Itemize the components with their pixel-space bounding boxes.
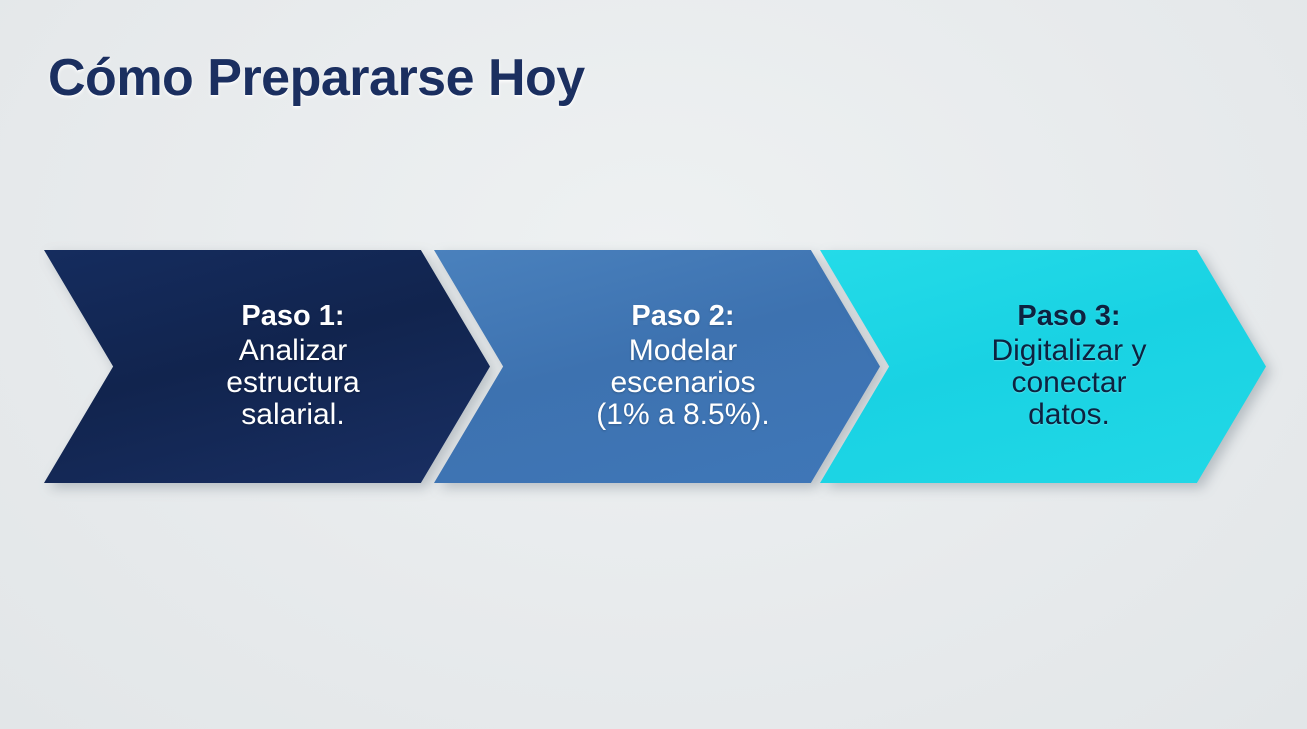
- process-step-2[interactable]: Paso 2: Modelar escenarios (1% a 8.5%).: [434, 250, 880, 483]
- process-step-2-label: Paso 2: Modelar escenarios (1% a 8.5%).: [544, 301, 769, 431]
- process-step-3[interactable]: Paso 3: Digitalizar y conectar datos.: [820, 250, 1266, 483]
- process-step-1-label: Paso 1: Analizar estructura salarial.: [174, 301, 359, 431]
- page-title: Cómo Prepararse Hoy: [48, 48, 585, 108]
- process-step-3-label: Paso 3: Digitalizar y conectar datos.: [939, 301, 1146, 431]
- process-step-1[interactable]: Paso 1: Analizar estructura salarial.: [44, 250, 490, 483]
- process-step-3-title: Paso 3:: [991, 301, 1146, 332]
- process-step-1-title: Paso 1:: [226, 301, 359, 332]
- process-step-1-description: Analizar estructura salarial.: [226, 335, 359, 432]
- slide-canvas: Cómo Prepararse Hoy Paso 1: Analizar est…: [0, 0, 1307, 729]
- process-chevron-row: Paso 1: Analizar estructura salarial. Pa…: [0, 250, 1307, 483]
- process-step-2-title: Paso 2:: [596, 301, 769, 332]
- process-step-2-description: Modelar escenarios (1% a 8.5%).: [596, 335, 769, 432]
- process-step-3-description: Digitalizar y conectar datos.: [991, 335, 1146, 432]
